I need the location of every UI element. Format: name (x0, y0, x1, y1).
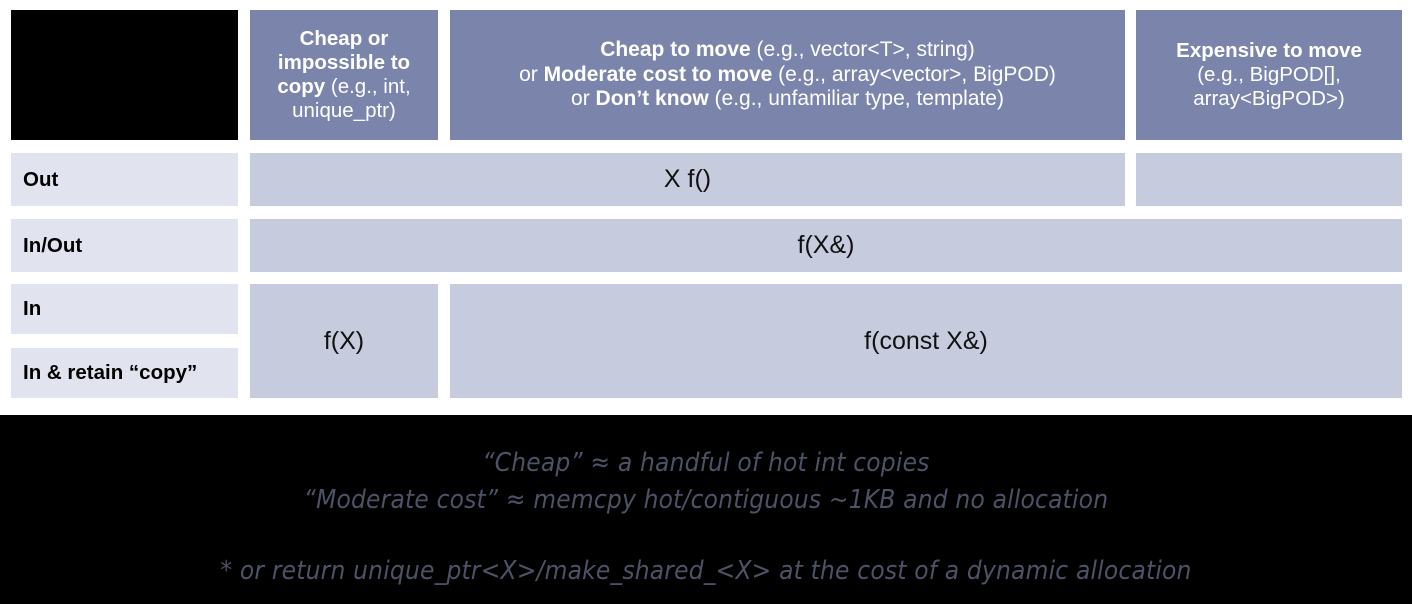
header-line-4: unique_ptr) (277, 99, 410, 123)
header-line-1: Cheap or (277, 27, 410, 51)
header-line-2: impossible to (277, 51, 410, 75)
cell-value: f(const X&) (864, 327, 988, 356)
cell-out-expensive-blank (1136, 153, 1402, 206)
row-label-text: In (23, 297, 41, 321)
header-line-3: or Don’t know (e.g., unfamiliar type, te… (519, 87, 1056, 111)
row-label-in: In (11, 284, 238, 334)
header-line-1: Expensive to move (1176, 39, 1362, 63)
header-line-1: Cheap to move (e.g., vector<T>, string) (519, 38, 1056, 62)
row-label-in-retain-copy: In & retain “copy” (11, 348, 238, 398)
footnotes: “Cheap” ≈ a handful of hot int copies “M… (0, 415, 1412, 604)
header-line-2: (e.g., BigPOD[], (1176, 63, 1362, 87)
footnote-cheap: “Cheap” ≈ a handful of hot int copies (482, 445, 929, 482)
column-header-cheap-or-impossible-to-copy: Cheap or impossible to copy (e.g., int, … (250, 10, 438, 140)
row-label-text: In & retain “copy” (23, 361, 197, 385)
cell-value: f(X) (324, 327, 364, 356)
footnote-asterisk: * or return unique_ptr<X>/make_shared_<X… (220, 553, 1191, 590)
cell-in-cheap-copy-fx: f(X) (250, 284, 438, 398)
footnote-moderate-cost: “Moderate cost” ≈ memcpy hot/contiguous … (304, 482, 1108, 519)
parameter-passing-matrix: Cheap or impossible to copy (e.g., int, … (0, 0, 1412, 415)
column-header-cheap-moderate-or-dont-know-to-move: Cheap to move (e.g., vector<T>, string) … (450, 10, 1125, 140)
cell-out-span: X f() (250, 153, 1125, 206)
cell-value: f(X&) (798, 231, 855, 260)
row-label-out: Out (11, 153, 238, 206)
cell-in-out-span: f(X&) (250, 219, 1402, 272)
header-line-3: array<BigPOD>) (1176, 87, 1362, 111)
row-label-text: In/Out (23, 234, 82, 258)
row-label-text: Out (23, 168, 58, 192)
header-line-2: or Moderate cost to move (e.g., array<ve… (519, 63, 1056, 87)
cell-in-const-ref-span: f(const X&) (450, 284, 1402, 398)
row-label-in-out: In/Out (11, 219, 238, 272)
column-header-expensive-to-move: Expensive to move (e.g., BigPOD[], array… (1136, 10, 1402, 140)
cell-value: X f() (664, 165, 711, 194)
header-line-3: copy (e.g., int, (277, 75, 410, 99)
